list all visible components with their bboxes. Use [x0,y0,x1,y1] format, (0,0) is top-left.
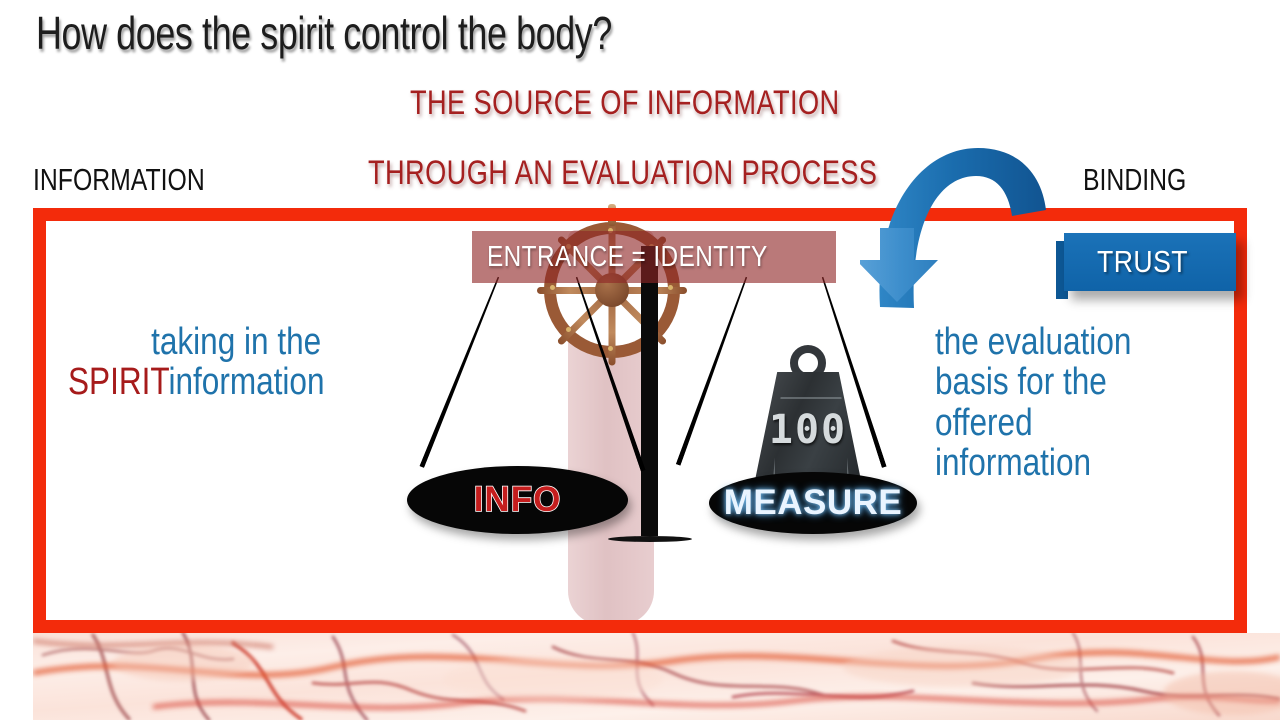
trust-label: TRUST [1097,244,1188,280]
page-title: How does the spirit control the body? [36,6,612,60]
tissue-texture-image [33,633,1280,720]
label-information: INFORMATION [33,162,205,198]
subtitle-line-2: THROUGH AN EVALUATION PROCESS [368,154,877,193]
slide-canvas: How does the spirit control the body? TH… [0,0,1280,720]
label-binding: BINDING [1083,162,1186,198]
curved-down-arrow-icon [860,132,1050,322]
subtitle-line-1: THE SOURCE OF INFORMATION [410,84,840,123]
trust-box[interactable]: TRUST [1064,233,1236,291]
